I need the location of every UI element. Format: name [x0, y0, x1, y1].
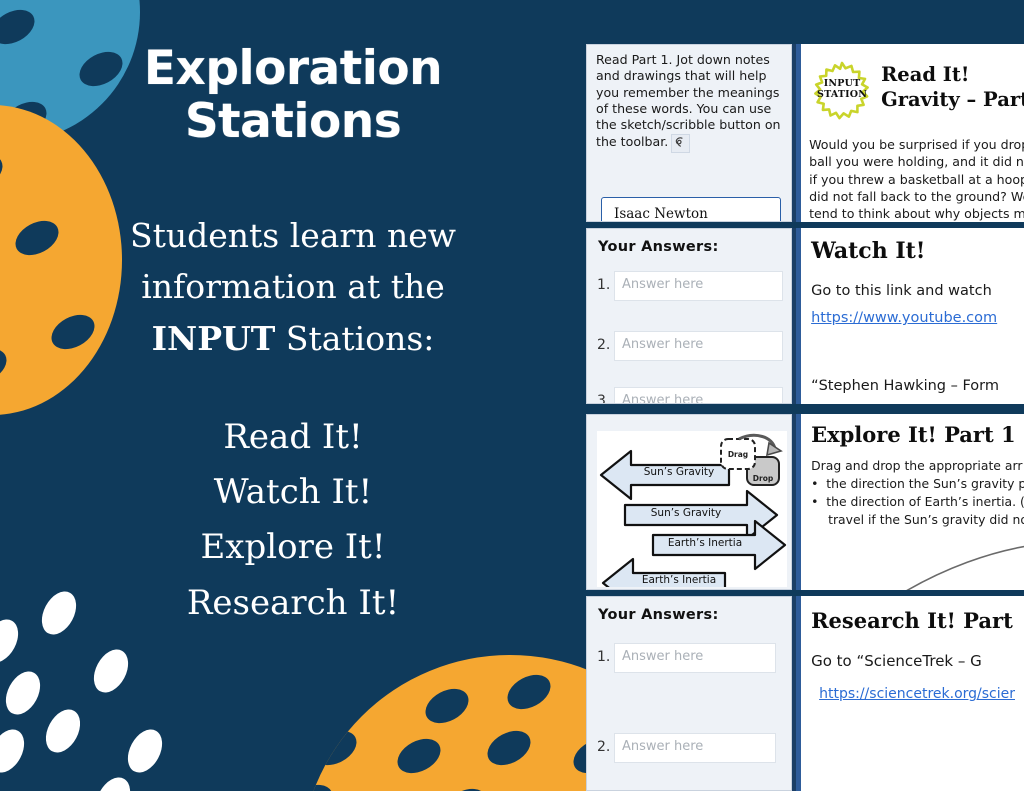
answer-placeholder: Answer here [622, 337, 703, 352]
answer-placeholder: Answer here [622, 649, 703, 664]
arrow-drag-canvas: Sun’s Gravity Sun’s Gravity Earth’s Iner… [597, 431, 787, 587]
explore-it-bullet-text: the direction of Earth’s inertia. ( [826, 494, 1024, 509]
answer-number: 1. [597, 277, 610, 293]
watch-it-heading: Watch It! [811, 238, 925, 264]
svg-text:Drag: Drag [728, 450, 748, 459]
read-it-body: Would you be surprised if you dropped ba… [809, 136, 1024, 222]
screenshot-column: Read Part 1. Jot down notes and drawings… [586, 0, 1024, 791]
input-station-seal-label: INPUT STATION [810, 79, 874, 101]
screenshot-panel-watch-it: Your Answers: 1. Answer here 2. Answer h… [586, 228, 1024, 404]
read-it-notes-pane: Read Part 1. Jot down notes and drawings… [586, 44, 792, 222]
answers-heading: Your Answers: [598, 607, 719, 623]
read-it-heading: Read It! Gravity – Part 1 [881, 63, 1024, 112]
poster-canvas: Exploration Stations Students learn new … [0, 0, 1024, 791]
answer-placeholder: Answer here [622, 739, 703, 754]
subtitle-part-2: Stations: [275, 319, 434, 358]
station-list: Read It! Watch It! Explore It! Research … [187, 410, 399, 632]
orbit-curve-illustration [801, 524, 1024, 590]
read-it-body-line: if you threw a basketball at a hoop and [809, 171, 1024, 188]
screenshot-panel-research-it: Your Answers: 1. Answer here 2. Answer h… [586, 596, 1024, 791]
page-title: Exploration Stations [144, 43, 442, 148]
station-item: Watch It! [187, 465, 399, 520]
read-it-body-line: ball you were holding, and it did not fa… [809, 153, 1024, 170]
arrow-label[interactable]: Earth’s Inertia [655, 537, 755, 549]
watch-it-content-pane: Watch It! Go to this link and watch http… [796, 228, 1024, 404]
explore-it-bullet: • the direction the Sun’s gravity p [811, 476, 1024, 491]
subtitle-part-1: Students learn new information at the [130, 216, 456, 306]
answer-placeholder: Answer here [622, 277, 703, 292]
read-it-body-line: tend to think about why objects move [809, 205, 1024, 222]
vocabulary-answer-card[interactable]: Isaac Newton Type/draw here. [601, 197, 781, 222]
seal-line-2: STATION [810, 90, 874, 101]
answers-heading: Your Answers: [598, 239, 719, 255]
answer-number: 2. [597, 739, 610, 755]
screenshot-panel-read-it: Read Part 1. Jot down notes and drawings… [586, 44, 1024, 222]
read-it-body-line: Would you be surprised if you dropped [809, 136, 1024, 153]
watch-it-instruction: Go to this link and watch [811, 283, 992, 299]
left-text-column: Exploration Stations Students learn new … [0, 0, 586, 791]
answer-number: 3. [597, 393, 610, 404]
watch-it-answers-pane: Your Answers: 1. Answer here 2. Answer h… [586, 228, 792, 404]
vocabulary-term: Isaac Newton [614, 206, 708, 222]
read-it-heading-line-1: Read It! [881, 63, 1024, 88]
research-it-link[interactable]: https://sciencetrek.org/scier [819, 686, 1015, 702]
title-line-1: Exploration [144, 43, 442, 96]
arrow-label[interactable]: Sun’s Gravity [631, 466, 727, 478]
answer-placeholder: Answer here [622, 393, 703, 404]
research-it-instruction: Go to “ScienceTrek – G [811, 652, 982, 670]
arrow-label[interactable]: Earth’s Inertia [633, 574, 725, 586]
watch-it-link[interactable]: https://www.youtube.com [811, 310, 997, 326]
read-it-instructions: Read Part 1. Jot down notes and drawings… [596, 52, 786, 153]
title-line-2: Stations [144, 96, 442, 149]
research-it-answers-pane: Your Answers: 1. Answer here 2. Answer h… [586, 596, 792, 791]
explore-it-content-pane: Explore It! Part 1 Drag and drop the app… [796, 414, 1024, 590]
research-it-heading: Research It! Part [811, 608, 1013, 633]
explore-it-arrows-pane: Sun’s Gravity Sun’s Gravity Earth’s Iner… [586, 414, 792, 590]
read-it-content-pane: INPUT STATION Read It! Gravity – Part 1 … [796, 44, 1024, 222]
subtitle: Students learn new information at the IN… [78, 210, 508, 363]
drag-and-drop-icon[interactable]: Drag Drop [715, 433, 787, 495]
station-item: Read It! [187, 410, 399, 465]
explore-it-intro: Drag and drop the appropriate arr [811, 458, 1022, 473]
scribble-icon[interactable] [671, 134, 690, 153]
read-it-body-line: did not fall back to the ground? We dor [809, 188, 1024, 205]
station-item: Research It! [187, 576, 399, 631]
explore-it-heading: Explore It! Part 1 [811, 422, 1016, 447]
svg-text:Drop: Drop [753, 474, 774, 483]
station-item: Explore It! [187, 520, 399, 575]
read-it-heading-line-2: Gravity – Part 1 [881, 88, 1024, 113]
watch-it-video-title: “Stephen Hawking – Form [811, 378, 999, 394]
input-station-seal-icon: INPUT STATION [810, 61, 874, 125]
explore-it-bullet: • the direction of Earth’s inertia. ( [811, 494, 1024, 509]
answer-number: 1. [597, 649, 610, 665]
research-it-content-pane: Research It! Part Go to “ScienceTrek – G… [796, 596, 1024, 791]
explore-it-bullet-text: the direction the Sun’s gravity p [826, 476, 1024, 491]
screenshot-panel-explore-it: Sun’s Gravity Sun’s Gravity Earth’s Iner… [586, 414, 1024, 590]
arrow-label[interactable]: Sun’s Gravity [627, 507, 745, 519]
subtitle-emphasis: INPUT [152, 319, 276, 358]
answer-number: 2. [597, 337, 610, 353]
